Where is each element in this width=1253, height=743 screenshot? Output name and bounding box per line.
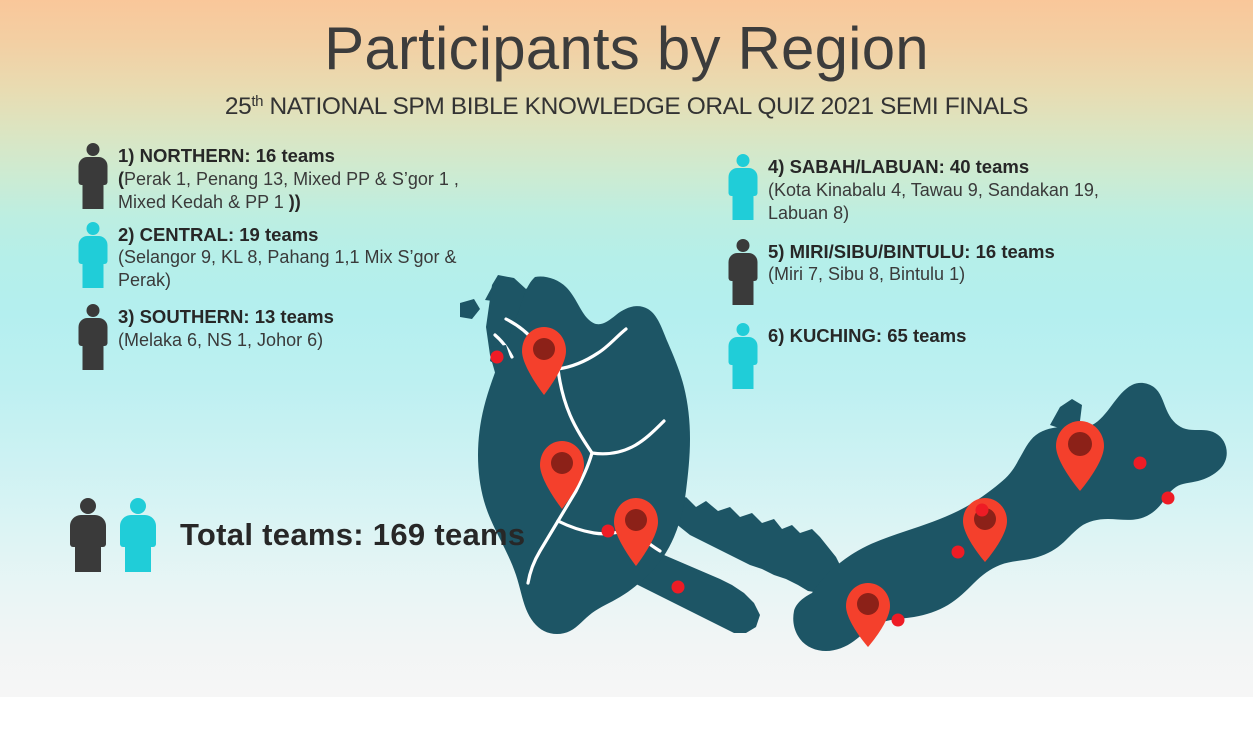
legend-detail-line: (Perak 1, Penang 13, Mixed PP & S’gor 1 …: [118, 168, 568, 191]
person-body: [729, 337, 758, 365]
person-legs: [733, 280, 754, 305]
person-head: [130, 498, 146, 514]
person-body: [729, 168, 758, 196]
subtitle-rest: NATIONAL SPM BIBLE KNOWLEDGE ORAL QUIZ 2…: [263, 93, 1028, 120]
person-body: [120, 515, 156, 547]
legend-heading: 1) NORTHERN: 16 teams: [118, 144, 568, 168]
person-legs: [125, 546, 151, 572]
legend-item-southern[interactable]: 3) SOUTHERN: 13 teams (Melaka 6, NS 1, J…: [68, 302, 568, 370]
person-icon-cyan: [727, 323, 759, 389]
legend-text: 2) CENTRAL: 19 teams (Selangor 9, KL 8, …: [118, 220, 568, 293]
person-legs: [83, 345, 104, 370]
person-body: [79, 157, 108, 185]
legend-item-kuching[interactable]: 6) KUCHING: 65 teams: [718, 321, 1238, 389]
legend-detail-line: Mixed Kedah & PP 1 )): [118, 191, 568, 214]
legend-heading: 2) CENTRAL: 19 teams: [118, 223, 568, 247]
legend-column-left: 1) NORTHERN: 16 teams (Perak 1, Penang 1…: [68, 141, 568, 370]
person-head: [87, 143, 100, 156]
person-head: [737, 239, 750, 252]
legend-detail-line: (Miri 7, Sibu 8, Bintulu 1): [768, 263, 1238, 286]
person-icon-dark: [77, 304, 109, 370]
map-dot-melaka: [602, 525, 615, 538]
legend-icon-slot: [68, 141, 118, 209]
legend-icon-slot: [718, 321, 768, 389]
person-body: [70, 515, 106, 547]
legend-text: 3) SOUTHERN: 13 teams (Melaka 6, NS 1, J…: [118, 302, 568, 352]
person-head: [87, 304, 100, 317]
legend-text: 4) SABAH/LABUAN: 40 teams (Kota Kinabalu…: [768, 152, 1238, 225]
map-dot-johor: [672, 581, 685, 594]
subtitle-superscript: th: [251, 93, 263, 110]
person-head: [87, 222, 100, 235]
person-icon-dark: [66, 498, 110, 572]
legend-heading: 5) MIRI/SIBU/BINTULU: 16 teams: [768, 240, 1238, 264]
legend-detail-text: Perak 1, Penang 13, Mixed PP & S’gor 1 ,: [124, 169, 459, 189]
legend-heading: 6) KUCHING: 65 teams: [768, 324, 1238, 348]
map-dot-tawau: [1162, 492, 1175, 505]
legend-item-northern[interactable]: 1) NORTHERN: 16 teams (Perak 1, Penang 1…: [68, 141, 568, 214]
legend-icon-slot: [718, 152, 768, 220]
legend-icon-slot: [68, 302, 118, 370]
legend-detail-line: (Selangor 9, KL 8, Pahang 1,1 Mix S’gor …: [118, 246, 568, 269]
person-icon-cyan: [77, 222, 109, 288]
person-legs: [83, 263, 104, 288]
person-legs: [83, 184, 104, 209]
legend-item-sabah-labuan[interactable]: 4) SABAH/LABUAN: 40 teams (Kota Kinabalu…: [718, 152, 1238, 225]
person-head: [737, 154, 750, 167]
legend-text: 5) MIRI/SIBU/BINTULU: 16 teams (Miri 7, …: [768, 237, 1238, 287]
map-dot-bintulu: [952, 546, 965, 559]
person-body: [79, 318, 108, 346]
map-dot-labuan: [976, 504, 989, 517]
person-body: [729, 253, 758, 281]
map-dot-sri-aman: [892, 614, 905, 627]
legend-detail-line: (Kota Kinabalu 4, Tawau 9, Sandakan 19,: [768, 179, 1238, 202]
person-icon-dark: [727, 239, 759, 305]
subtitle-prefix: 25: [225, 93, 251, 120]
legend-text: 1) NORTHERN: 16 teams (Perak 1, Penang 1…: [118, 141, 568, 214]
person-head: [737, 323, 750, 336]
slide-bottom-band: [0, 697, 1253, 743]
total-teams-icons: [66, 498, 160, 572]
legend-item-miri-sibu-bintulu[interactable]: 5) MIRI/SIBU/BINTULU: 16 teams (Miri 7, …: [718, 237, 1238, 305]
legend-column-right: 4) SABAH/LABUAN: 40 teams (Kota Kinabalu…: [718, 152, 1238, 389]
infographic-slide: Participants by Region 25th NATIONAL SPM…: [0, 0, 1253, 697]
legend-icon-slot: [68, 220, 118, 288]
total-teams-block: Total teams: 169 teams: [66, 498, 525, 572]
legend-heading: 3) SOUTHERN: 13 teams: [118, 305, 568, 329]
legend-detail-line: Perak): [118, 269, 568, 292]
person-body: [79, 236, 108, 264]
map-dot-sandakan: [1134, 457, 1147, 470]
legend-icon-slot: [718, 237, 768, 305]
person-legs: [733, 195, 754, 220]
total-teams-label: Total teams: 169 teams: [180, 517, 525, 553]
legend-detail-line: Labuan 8): [768, 202, 1238, 225]
legend-text: 6) KUCHING: 65 teams: [768, 321, 1238, 348]
person-legs: [733, 364, 754, 389]
legend-detail-line: (Melaka 6, NS 1, Johor 6): [118, 329, 568, 352]
person-icon-cyan: [727, 154, 759, 220]
person-icon-cyan: [116, 498, 160, 572]
page-subtitle: 25th NATIONAL SPM BIBLE KNOWLEDGE ORAL Q…: [0, 93, 1253, 121]
legend-heading: 4) SABAH/LABUAN: 40 teams: [768, 155, 1238, 179]
person-icon-dark: [77, 143, 109, 209]
person-head: [80, 498, 96, 514]
person-legs: [75, 546, 101, 572]
legend-item-central[interactable]: 2) CENTRAL: 19 teams (Selangor 9, KL 8, …: [68, 220, 568, 293]
page-title: Participants by Region: [0, 17, 1253, 80]
